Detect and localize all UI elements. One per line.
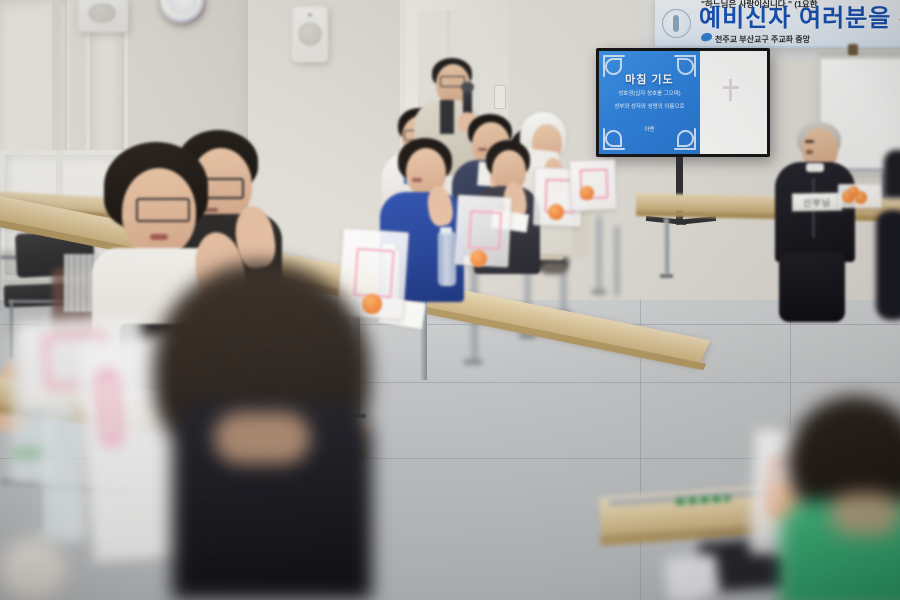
priest-cassock xyxy=(775,162,855,262)
diocese-emblem-icon xyxy=(662,9,691,38)
a1-mouth xyxy=(150,234,168,240)
priest-roman-collar xyxy=(806,163,824,172)
water-bottle-1 xyxy=(438,232,456,286)
white-item-on-table xyxy=(664,553,720,600)
mc-inner-shirt xyxy=(440,100,454,134)
slide-white-panel xyxy=(700,51,767,154)
photo-scene: "하느님은 사랑이십니다." (1요한 예비신자 여러분을 환 천주교 부산교구… xyxy=(0,0,900,600)
a1-glasses-icon xyxy=(136,198,190,222)
table-right-foot-1 xyxy=(660,274,673,278)
presentation-screen: 마침 기도 성호경(십자 성호를 그으며) 성부와 성자와 성령의 이름으로 아… xyxy=(596,48,770,157)
orange-4 xyxy=(362,294,382,314)
right-edge-lap xyxy=(876,210,900,320)
fg-bottom-left-blob xyxy=(0,538,66,600)
priest-eye xyxy=(805,140,814,143)
water-bottle-fg-2 xyxy=(40,416,86,542)
slide-blue-panel: 마침 기도 성호경(십자 성호를 그으며) 성부와 성자와 성령의 이름으로 아… xyxy=(599,51,700,154)
slide-title: 마침 기도 xyxy=(599,71,700,87)
fg-green-neck xyxy=(830,492,900,536)
screen-display: 마침 기도 성호경(십자 성호를 그으며) 성부와 성자와 성령의 이름으로 아… xyxy=(599,51,767,154)
event-banner: "하느님은 사랑이십니다." (1요한 예비신자 여러분을 환 천주교 부산교구… xyxy=(655,0,900,48)
slide-line-1: 성호경(십자 성호를 그으며) xyxy=(599,89,700,97)
right-edge-torso xyxy=(884,150,900,198)
banner-headline: 예비신자 여러분을 환 xyxy=(699,7,900,31)
wall-speaker-left-icon xyxy=(78,0,128,32)
gift-bag-2 xyxy=(569,159,617,211)
orange-1 xyxy=(548,204,564,220)
slide-line-2: 성부와 성자와 성령의 이름으로 xyxy=(599,103,700,111)
nameplate-priest: 신부님 xyxy=(792,193,842,212)
a5-mouth xyxy=(478,148,487,151)
banner-dove-icon xyxy=(700,32,713,43)
far-foot-4 xyxy=(464,360,482,364)
banner-headline-left: 예비신자 여러분을 xyxy=(699,5,891,32)
far-foot-1 xyxy=(592,290,606,294)
whiteboard-clip xyxy=(848,44,858,56)
slide-line-3: 아멘 xyxy=(599,125,700,133)
priest-mouth xyxy=(806,150,813,154)
wall-speaker-right-icon xyxy=(292,6,328,62)
priest-lap xyxy=(779,252,845,322)
orange-3 xyxy=(470,250,487,267)
far-shoe xyxy=(542,262,566,274)
orange-2 xyxy=(580,186,594,200)
nameplate-text: 신부님 xyxy=(793,196,841,210)
far-table-leg-1 xyxy=(596,216,601,290)
a1-earring xyxy=(124,212,133,221)
fg-dark-neck xyxy=(214,412,310,464)
orange-r3 xyxy=(848,186,859,197)
a4-mouth xyxy=(412,178,422,182)
microphone-head-icon xyxy=(461,82,474,92)
light-switch xyxy=(494,85,506,109)
table-right-leg-1 xyxy=(664,218,669,274)
water-bottle-cap-1 xyxy=(440,227,452,234)
cross-illustration-icon xyxy=(723,79,739,101)
far-table-leg-2 xyxy=(614,226,619,296)
banner-subtitle: 천주교 부산교구 주교좌 중앙 xyxy=(715,34,810,45)
